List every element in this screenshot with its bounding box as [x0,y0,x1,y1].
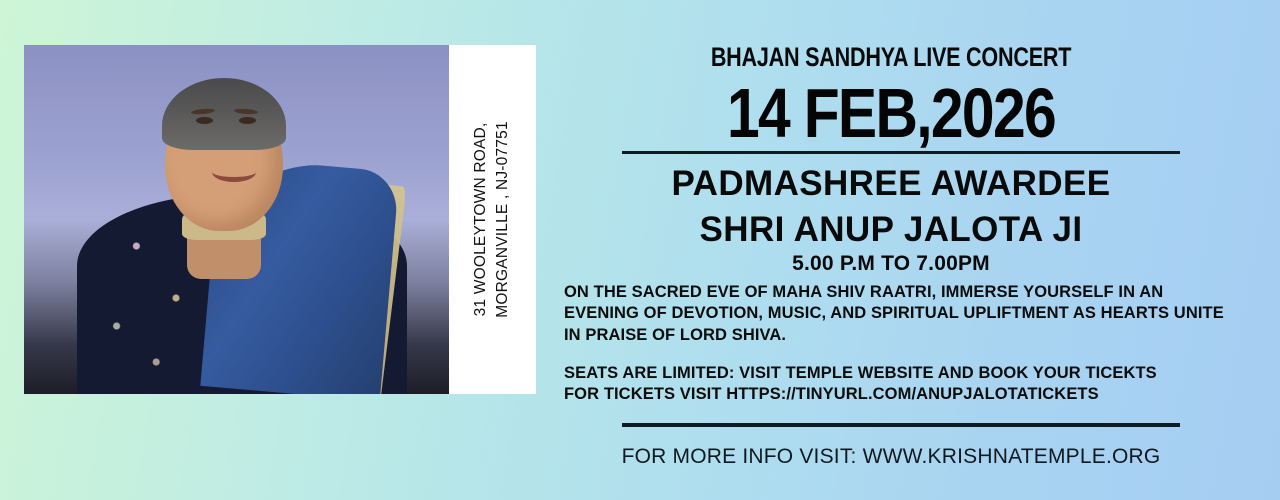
artist-name: SHRI ANUP JALOTA JI [556,210,1226,250]
photo-card: 31 WOOLEYTOWN ROAD, MORGANVILLE , NJ-077… [24,45,536,394]
divider-top [622,151,1180,154]
ticket-info: SEATS ARE LIMITED: VISIT TEMPLE WEBSITE … [564,363,1228,406]
performer-photo [24,45,449,394]
ticket-info-line-2: FOR TICKETS VISIT HTTPS://TINYURL.COM/AN… [564,384,1228,405]
event-date: 14 FEB,2026 [610,78,1173,148]
venue-address-line-2: MORGANVILLE , NJ-07751 [493,121,515,318]
event-info-column: BHAJAN SANDHYA LIVE CONCERT 14 FEB,2026 … [556,0,1256,500]
award-title: PADMASHREE AWARDEE [556,164,1226,204]
event-flyer: 31 WOOLEYTOWN ROAD, MORGANVILLE , NJ-077… [0,0,1280,500]
footer-info: FOR MORE INFO VISIT: WWW.KRISHNATEMPLE.O… [556,445,1226,469]
event-kicker: BHAJAN SANDHYA LIVE CONCERT [623,42,1159,73]
divider-bottom [622,423,1180,427]
photo-eye-right [239,117,256,124]
venue-address-line-1: 31 WOOLEYTOWN ROAD, [470,121,492,318]
event-description: ON THE SACRED EVE OF MAHA SHIV RAATRI, I… [564,282,1228,346]
address-panel: 31 WOOLEYTOWN ROAD, MORGANVILLE , NJ-077… [449,45,536,394]
event-time: 5.00 P.M TO 7.00PM [556,252,1226,276]
ticket-info-line-1: SEATS ARE LIMITED: VISIT TEMPLE WEBSITE … [564,363,1228,384]
venue-address: 31 WOOLEYTOWN ROAD, MORGANVILLE , NJ-077… [470,121,515,318]
photo-smile [212,162,256,182]
photo-eye-left [196,117,213,124]
